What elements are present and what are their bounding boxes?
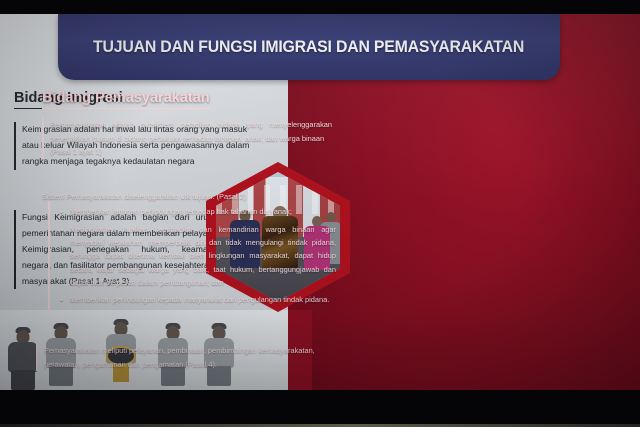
slide-title-bar: TUJUAN DAN FUNGSI IMIGRASI DAN PEMASYARA… xyxy=(58,14,560,80)
list-item: Memberikan jaminan perlindungan terhadap… xyxy=(70,205,336,218)
presentation-slide: TUJUAN DAN FUNGSI IMIGRASI DAN PEMASYARA… xyxy=(0,14,640,390)
right-objectives-block: Sistem Pemasyarakatan diselenggarakan ut… xyxy=(42,190,336,311)
right-paragraph-1-lastline: (Pasal 1 ayat 1) xyxy=(50,145,332,159)
page-title: TUJUAN DAN FUNGSI IMIGRASI DAN PEMASYARA… xyxy=(93,38,524,57)
block-rule xyxy=(48,201,50,311)
list-item: Memberikan perlindungan kepada masyaraka… xyxy=(70,293,336,306)
right-section-heading: Bidang Pemasyarakatan xyxy=(42,90,210,109)
right-objectives-list: Memberikan jaminan perlindungan terhadap… xyxy=(42,205,336,306)
officer-figure xyxy=(6,330,40,388)
legs-shape xyxy=(11,370,35,390)
projector-screen-photo: TUJUAN DAN FUNGSI IMIGRASI DAN PEMASYARA… xyxy=(0,0,640,427)
right-paragraph-2: Pemasyarakatan meliputi pelayanan, pembi… xyxy=(36,344,336,371)
right-paragraph-1: Pemasyarakatan adalah subsistem peradila… xyxy=(42,118,332,159)
right-paragraph-1-body: Pemasyarakatan adalah subsistem peradila… xyxy=(50,120,332,143)
list-item: Meningkatkan kualitas kepribadian dan ke… xyxy=(70,223,336,290)
right-list-intro: Sistem Pemasyarakatan diselenggarakan ut… xyxy=(42,190,336,203)
torso-shape xyxy=(8,342,38,372)
